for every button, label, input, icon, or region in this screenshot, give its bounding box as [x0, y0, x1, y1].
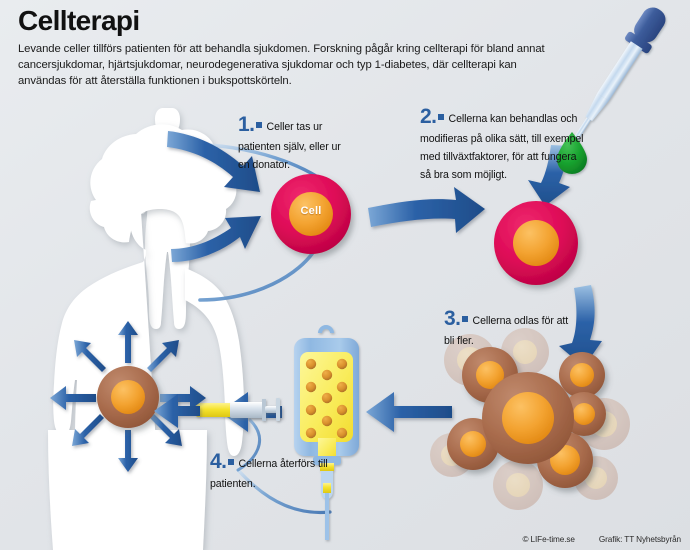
cell-modified	[494, 201, 578, 285]
step-2-text: Cellerna kan behand­las och modifieras p…	[420, 113, 583, 181]
step-2-caption: 2.Cellerna kan behand­las och modifieras…	[420, 105, 585, 183]
cluster-cell-faded	[493, 460, 543, 510]
step-bullet-square	[462, 316, 468, 322]
step-4-caption: 4.Cellerna återförs till patienten.	[210, 450, 360, 492]
copyright-text: © LIFe-time.se	[522, 535, 574, 544]
infographic-cellterapi: Cellterapi Levande celler tillförs patie…	[0, 0, 690, 550]
cluster-cell-main	[482, 372, 574, 464]
step-bullet-square	[438, 114, 444, 120]
step-bullet-square	[256, 122, 262, 128]
arrow-cluster-to-bag	[366, 392, 452, 432]
cell-label: Cell	[288, 205, 334, 217]
engrafted-cell-nucleus	[111, 380, 145, 414]
step-1-number: 1.	[238, 113, 255, 136]
step-3-number: 3.	[444, 307, 461, 330]
cluster-cell	[559, 352, 605, 398]
iv-bag	[294, 327, 359, 540]
arrow-cell1-to-cell2	[368, 187, 485, 233]
step-bullet-square	[228, 459, 234, 465]
step-3-caption: 3.Cellerna odlas för att bli fler.	[444, 307, 579, 349]
step-1-caption: 1.Celler tas ur patienten själv, eller u…	[238, 113, 348, 173]
cell-cluster	[430, 328, 630, 510]
step-2-number: 2.	[420, 105, 437, 128]
credits: © LIFe-time.seGrafik: TT Nyhetsbyrån	[522, 535, 681, 544]
graphic-credit-text: Grafik: TT Nyhetsbyrån	[599, 535, 681, 544]
step-4-number: 4.	[210, 450, 227, 473]
